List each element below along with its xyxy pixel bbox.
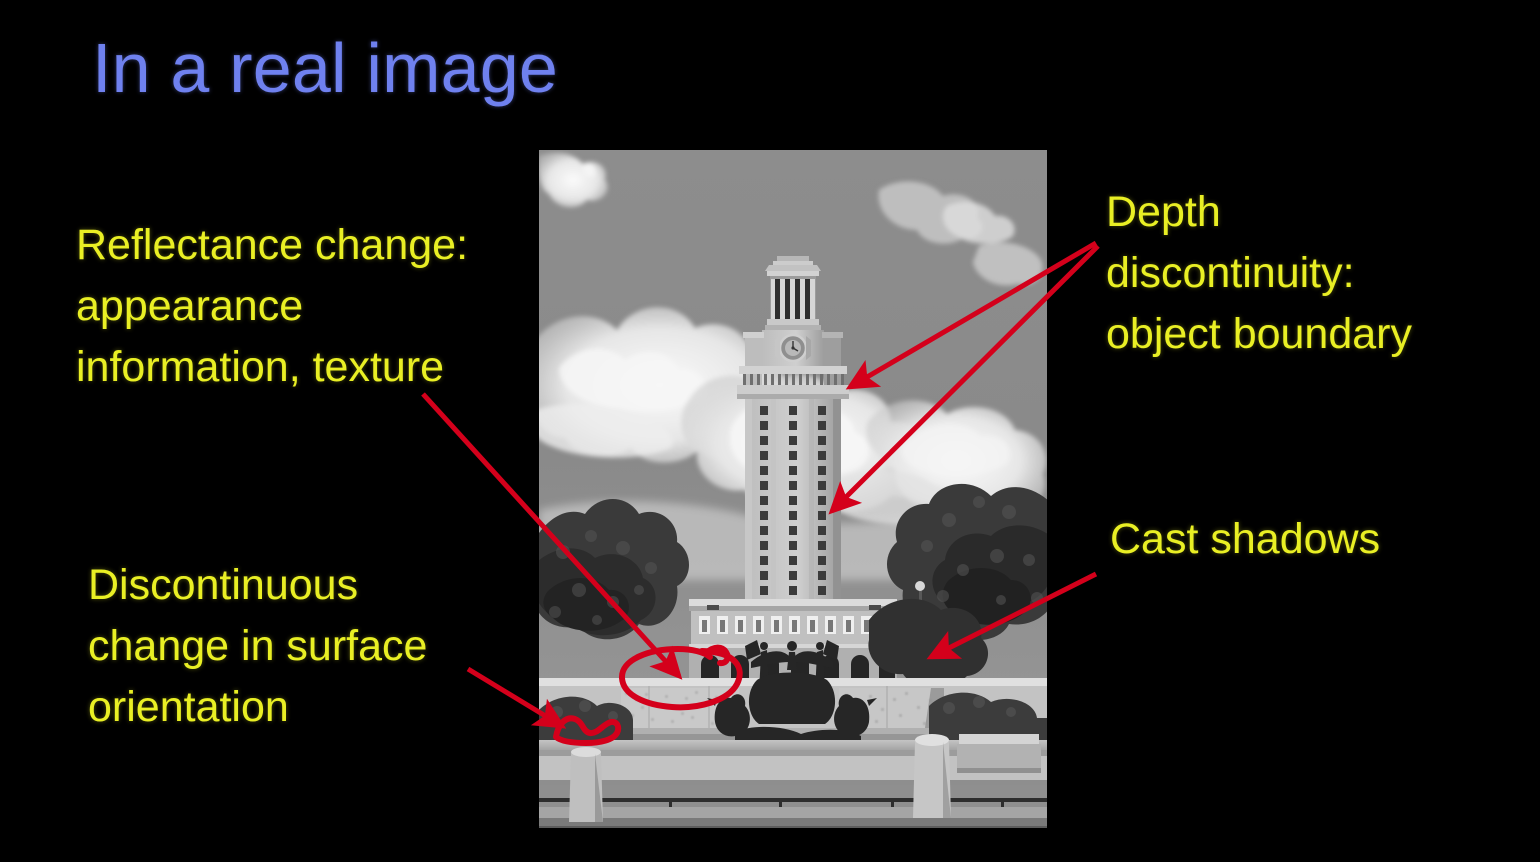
trees-left — [539, 499, 689, 639]
annotation-line: Discontinuous — [88, 555, 427, 616]
annotation-line: change in surface — [88, 616, 427, 677]
annotation-depth-discontinuity: Depth discontinuity: object boundary — [1106, 182, 1412, 365]
annotation-line: object boundary — [1106, 304, 1412, 365]
annotation-line: Depth — [1106, 182, 1412, 243]
annotation-line: Cast shadows — [1110, 509, 1380, 570]
slide-canvas: In a real image — [0, 0, 1540, 862]
annotation-line: discontinuity: — [1106, 243, 1412, 304]
annotation-line: Reflectance change: — [76, 215, 468, 276]
bollard-left — [569, 747, 603, 822]
photo-artwork — [539, 150, 1047, 828]
annotation-reflectance-change: Reflectance change: appearance informati… — [76, 215, 468, 398]
annotation-line: orientation — [88, 677, 427, 738]
annotation-cast-shadows: Cast shadows — [1110, 509, 1380, 570]
page-title: In a real image — [92, 32, 558, 106]
tower-photograph — [539, 150, 1047, 828]
bollard-right — [913, 734, 951, 818]
stone-pedestal-right — [957, 734, 1041, 773]
annotation-line: information, texture — [76, 337, 468, 398]
annotation-surface-orientation: Discontinuous change in surface orientat… — [88, 555, 427, 738]
annotation-line: appearance — [76, 276, 468, 337]
